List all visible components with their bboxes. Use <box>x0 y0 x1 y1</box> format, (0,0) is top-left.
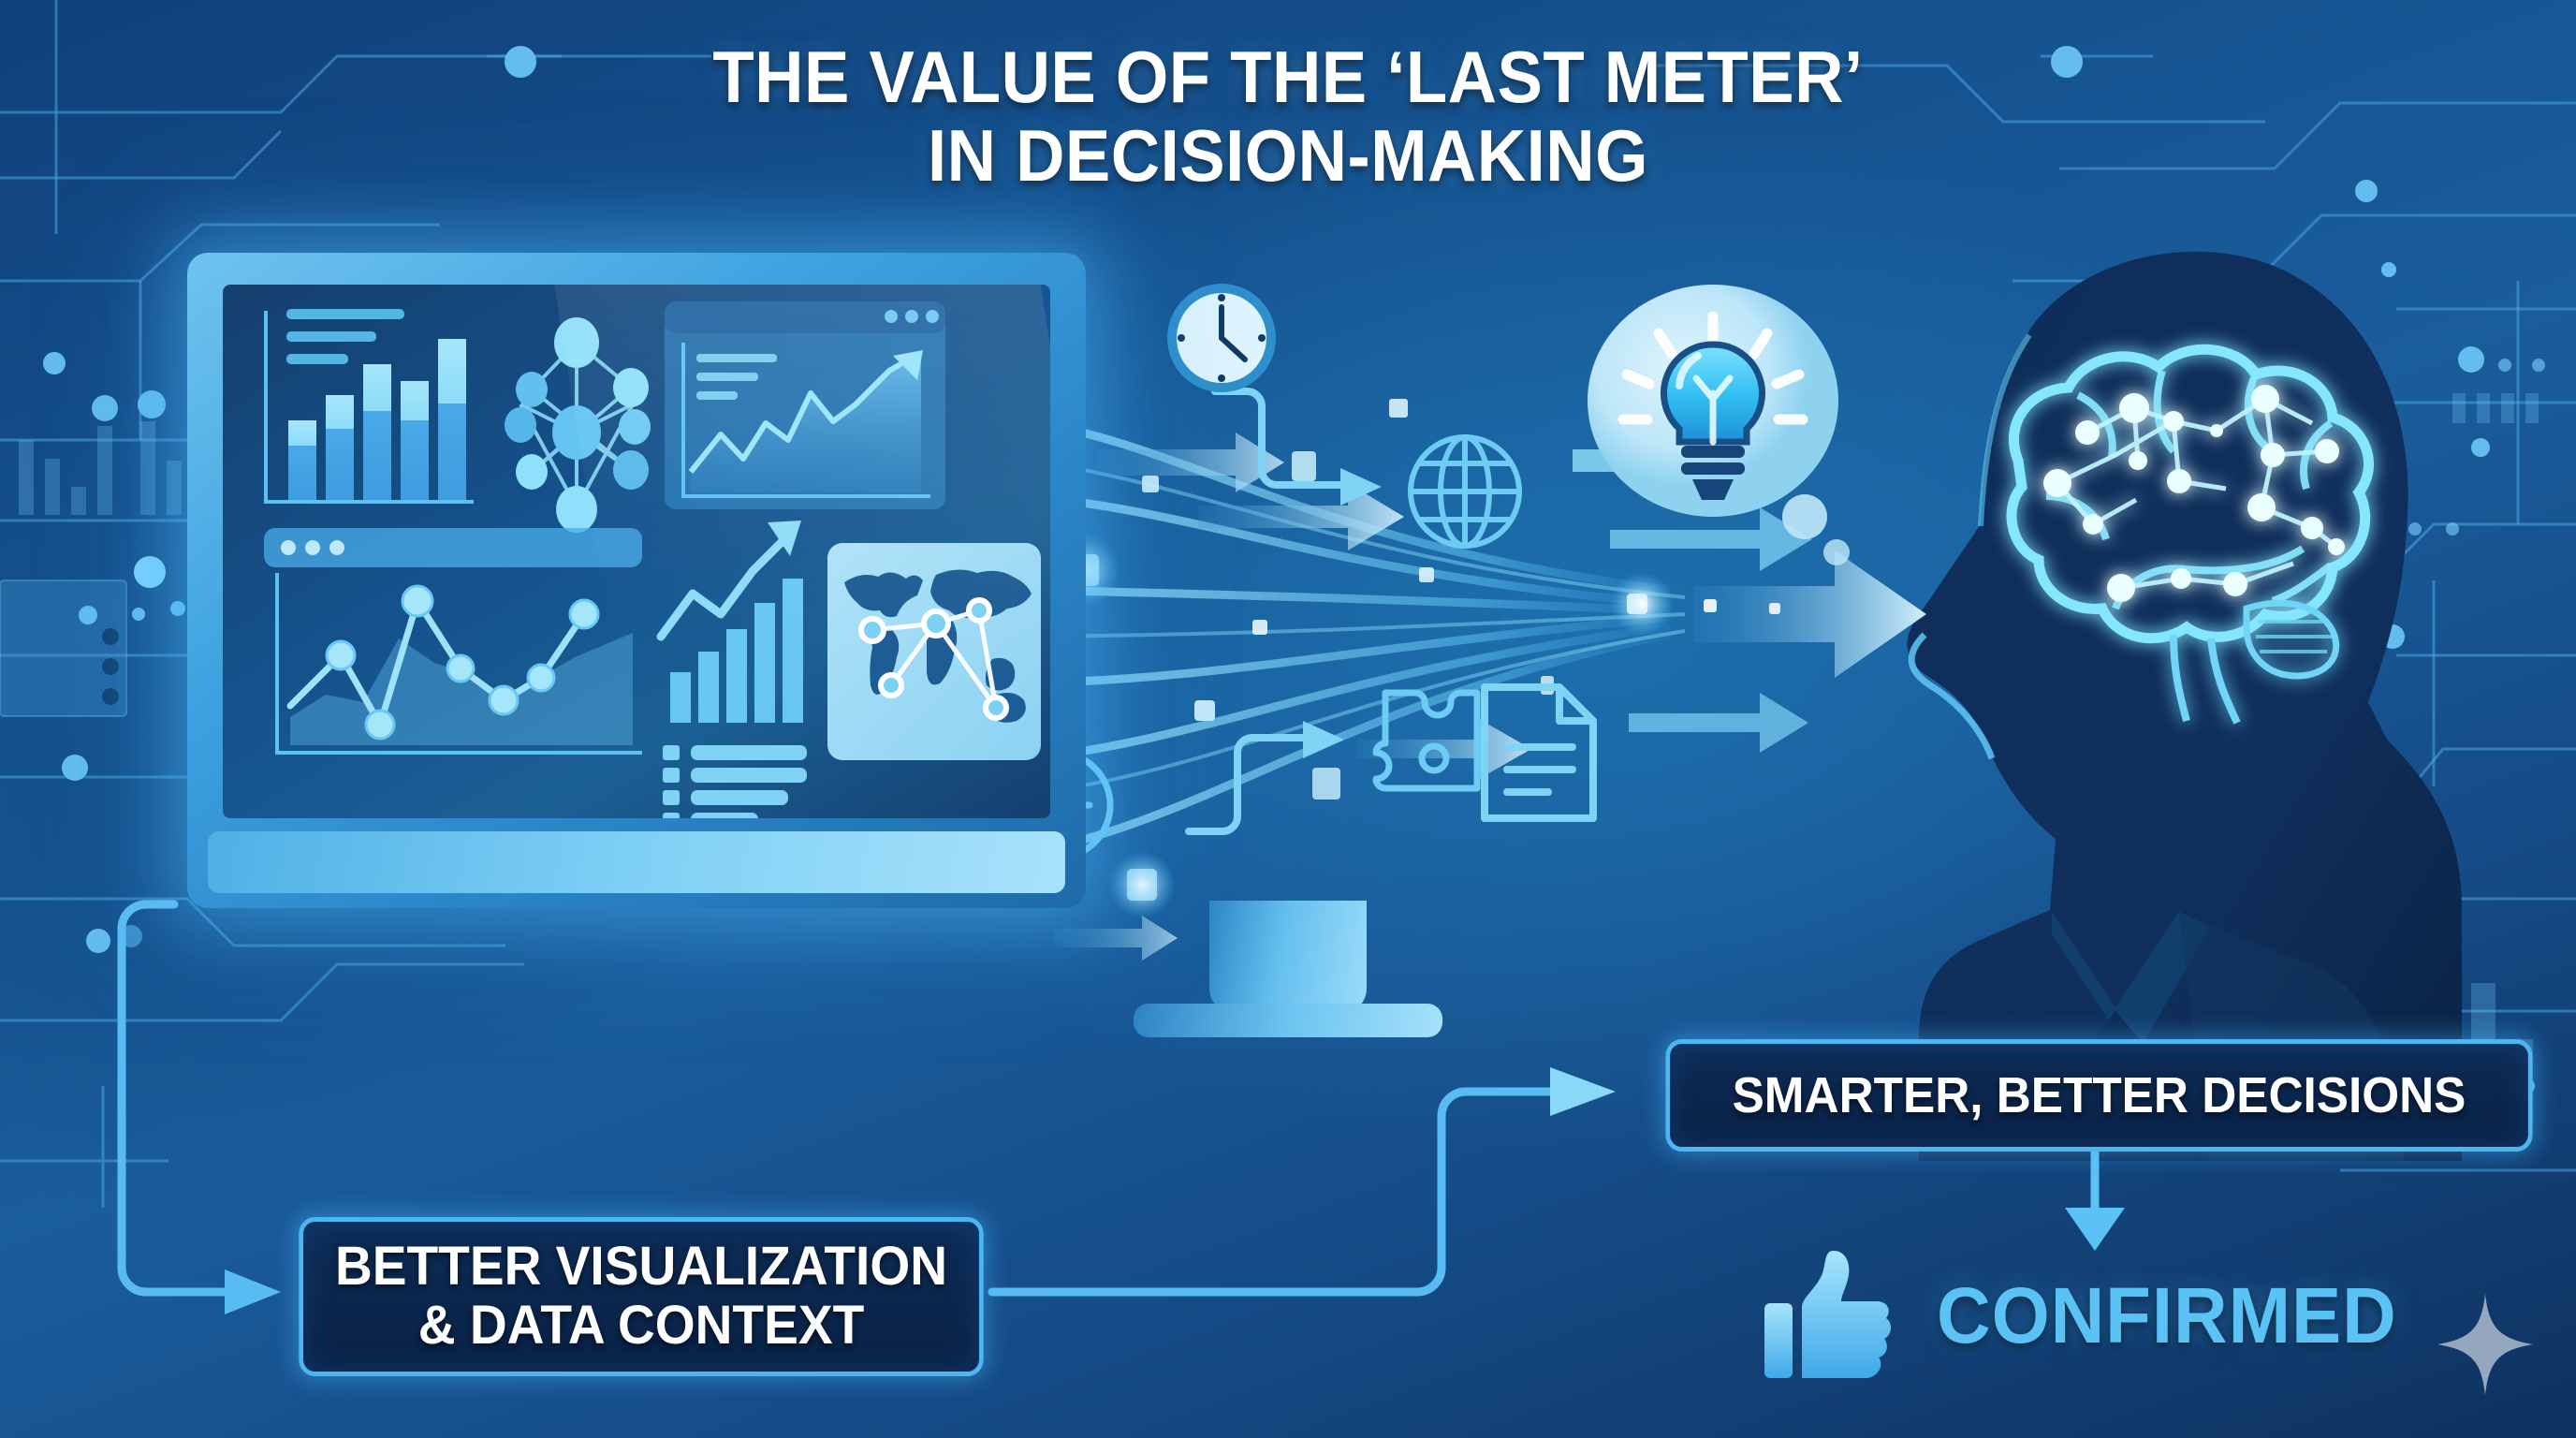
confirmation-group: CONFIRMED <box>1764 1245 2422 1386</box>
label-better-visualization[interactable]: BETTER VISUALIZATION & DATA CONTEXT <box>299 1217 984 1376</box>
label-visualization-line-1: BETTER VISUALIZATION <box>335 1238 947 1297</box>
sparkle-icon <box>2434 1290 2537 1399</box>
label-visualization-line-2: & DATA CONTEXT <box>335 1297 947 1356</box>
page-title: THE VALUE OF THE ‘LAST METER’ IN DECISIO… <box>90 37 2485 195</box>
label-smarter-better-decisions[interactable]: SMARTER, BETTER DECISIONS <box>1665 1039 2532 1152</box>
confirmed-label: CONFIRMED <box>1937 1270 2397 1361</box>
page-title-line-2: IN DECISION-MAKING <box>90 116 2485 195</box>
thumbs-up-icon <box>1764 1245 1901 1386</box>
infographic-canvas: THE VALUE OF THE ‘LAST METER’ IN DECISIO… <box>0 0 2576 1438</box>
page-title-line-1: THE VALUE OF THE ‘LAST METER’ <box>712 36 1863 118</box>
label-decisions-text: SMARTER, BETTER DECISIONS <box>1733 1066 2466 1124</box>
